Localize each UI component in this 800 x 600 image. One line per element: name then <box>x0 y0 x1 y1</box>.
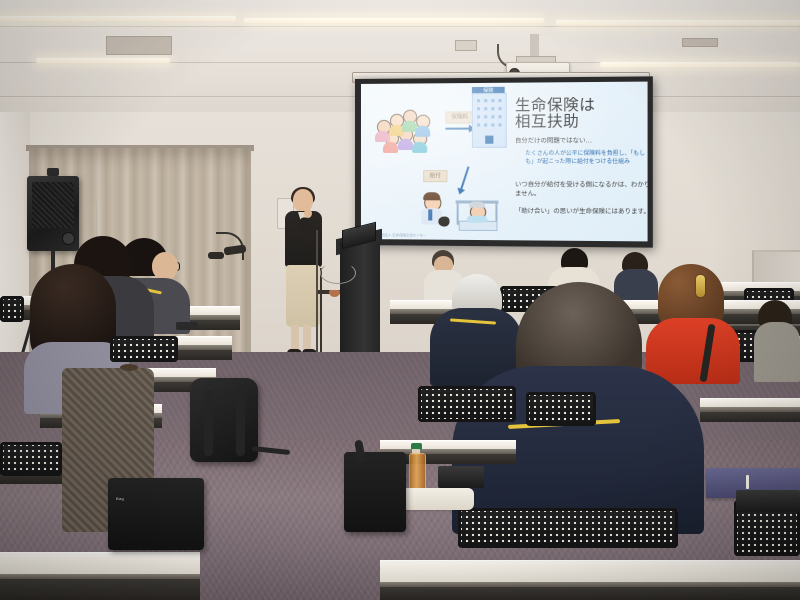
ceiling-speaker <box>455 40 477 51</box>
backpack-floor[interactable] <box>190 378 258 462</box>
chair-left-front[interactable] <box>0 442 62 476</box>
desk-right-folder <box>700 398 800 424</box>
seminar-room-photo: PROJECTOR <box>0 0 800 600</box>
ceiling-vent <box>106 36 172 55</box>
object-on-desk-left <box>120 364 138 371</box>
chair-left-mid[interactable] <box>110 336 178 362</box>
chair-foreground-center[interactable] <box>458 508 678 548</box>
hospital-bed-illustration <box>456 196 499 229</box>
projection-screen: 保険料 保険 給付 <box>355 76 653 247</box>
smartphone-on-desk[interactable] <box>176 322 198 330</box>
chair-mid-bottle[interactable] <box>418 386 516 422</box>
desk-left-bottom <box>0 552 200 600</box>
paper-on-folder <box>746 475 749 489</box>
crying-person-illustration <box>419 194 449 228</box>
tag-premium: 保険料 <box>445 111 473 123</box>
ceiling-light-front-2 <box>244 18 544 23</box>
ceiling-light-front-3 <box>556 20 800 25</box>
slide-content: 保険料 保険 給付 <box>361 82 648 242</box>
crowd-illustration <box>375 108 441 152</box>
slide-title: 生命保険は 相互扶助 <box>515 96 645 130</box>
equipment-case-right[interactable] <box>736 490 800 512</box>
slide-body-2: 「助け合い」の思いが生命保険にはあります。 <box>515 207 648 217</box>
presenter-head <box>293 189 313 212</box>
audience-a9 <box>754 300 800 380</box>
ceiling-light-front <box>0 16 236 21</box>
insurance-door <box>485 136 493 144</box>
speaker-handle <box>47 168 59 176</box>
cart-leg-left <box>320 268 322 364</box>
speaker-grille <box>32 182 74 228</box>
presenter-leg-right <box>303 325 311 351</box>
presenter-leg-left <box>291 325 299 351</box>
presenter-skirt <box>286 265 320 327</box>
chair-left-back[interactable] <box>0 296 24 322</box>
desk-foreground-right <box>380 560 800 600</box>
arrow-right-icon <box>445 128 469 130</box>
ceiling-vent-2 <box>682 38 718 47</box>
equipment-case-center[interactable] <box>438 466 484 488</box>
duffel-logo: Bag <box>116 496 124 501</box>
duffel-bag-floor[interactable]: Bag <box>108 478 204 550</box>
audience-a3-head <box>152 252 178 280</box>
lectern-body <box>340 242 380 368</box>
power-cord <box>320 262 356 284</box>
ceiling-light-mid-2 <box>600 62 800 67</box>
backpack-strap-a <box>204 390 213 456</box>
slide-note-blue: たくさんの人が公平に保険料を負担し、「もしも」が起こった際に給付をつける仕組み <box>525 150 647 167</box>
lectern-cart <box>318 224 380 368</box>
duffel-bag-floor-2[interactable] <box>344 452 406 532</box>
tag-benefit: 給付 <box>423 170 447 182</box>
slide-body-1: いつ自分が給付を受ける側になるかは、わかりません。 <box>515 180 648 199</box>
backpack-strap-b <box>236 390 245 456</box>
ceiling-light-mid <box>36 58 170 63</box>
presenter-hand <box>304 209 312 218</box>
table-mic <box>208 252 224 259</box>
chair-mid-bottle-2[interactable] <box>526 392 596 426</box>
arrow-down-icon <box>460 166 469 190</box>
slide-subtitle: 自分だけの問題ではない… <box>515 135 648 145</box>
audience-a9-torso <box>754 322 800 382</box>
white-towel[interactable] <box>398 488 474 510</box>
